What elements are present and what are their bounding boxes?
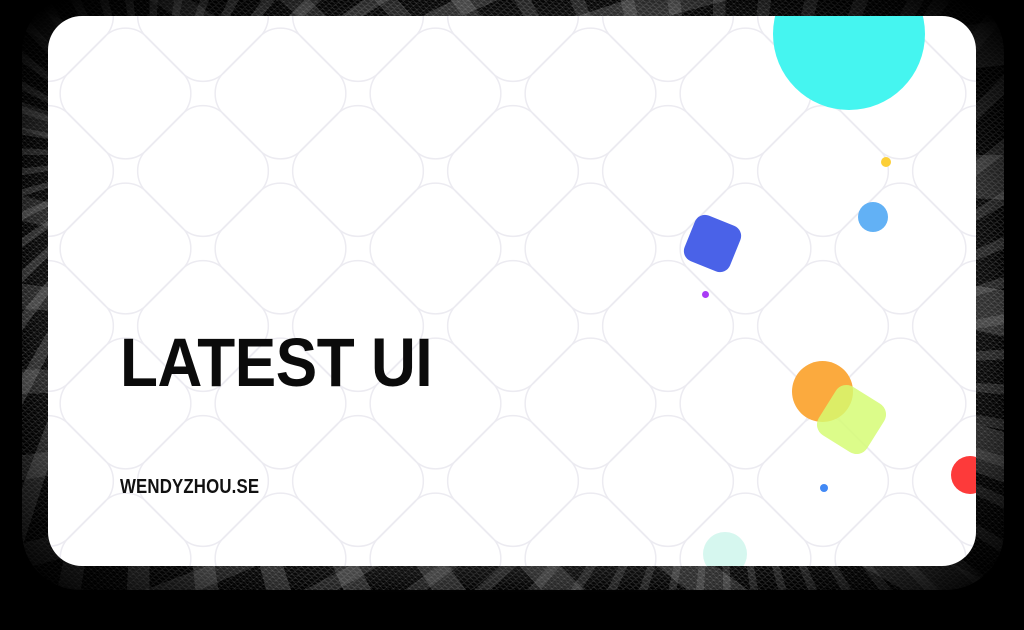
- mint-circle: [703, 532, 747, 566]
- blue-rounded-square: [681, 212, 745, 276]
- orange-circle: [792, 361, 853, 422]
- blue-dot: [820, 484, 828, 492]
- purple-dot: [702, 291, 709, 298]
- slide-canvas: LATEST UI DESIGN TRENDS WENDYZHOU.SE: [0, 0, 1024, 630]
- cyan-circle: [773, 16, 925, 110]
- site-byline: WENDYZHOU.SE: [120, 476, 259, 499]
- slide-card: LATEST UI DESIGN TRENDS WENDYZHOU.SE: [48, 16, 976, 566]
- yellow-dot: [881, 157, 891, 167]
- light-blue-circle: [858, 202, 888, 232]
- page-title: LATEST UI DESIGN TRENDS: [120, 138, 625, 566]
- red-circle: [951, 456, 976, 494]
- lime-rounded-square: [812, 380, 891, 459]
- page-title-line-1: LATEST UI: [120, 318, 625, 408]
